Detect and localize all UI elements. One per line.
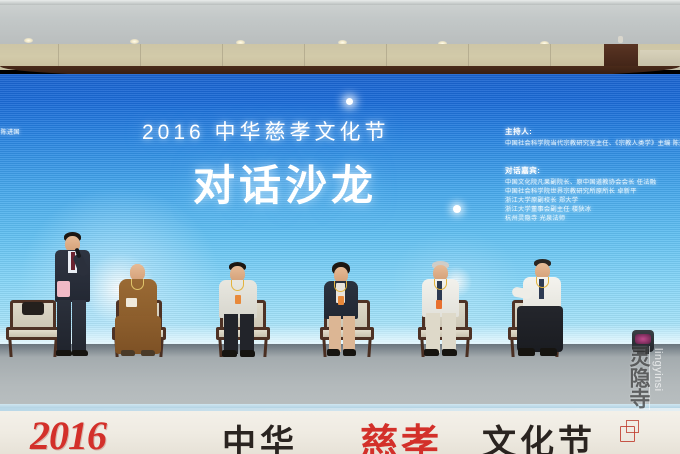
guests-heading: 对话嘉宾: <box>505 165 680 176</box>
host-line: 中国社会科学院当代宗教研究室主任、《宗教人类学》主编 陈进国 <box>505 140 680 149</box>
banner-word-2: 慈孝 <box>360 412 442 454</box>
screen-title-main: 2016 中华慈孝文化节 <box>142 116 452 146</box>
smoke-detector-icon <box>618 36 623 43</box>
watermark-latin: lingyinsi <box>652 348 664 392</box>
ceiling-edge <box>0 0 680 5</box>
watermark: 灵隐寺 lingyinsi <box>618 346 678 446</box>
guest-line: 浙江大学原副校长 郑大学 <box>505 197 680 206</box>
cue-cards <box>57 281 70 297</box>
screen-credits-panel-left: 教学》主编 陈进国 <box>0 128 86 137</box>
guest-line: 浙江大学董事会副主任 楼狄冰 <box>505 206 680 215</box>
banner-year: 2016 <box>30 412 106 454</box>
name-badge <box>126 298 137 307</box>
monk-robe-lower <box>115 316 161 354</box>
stage-banner: 2016 中华 慈孝 文化节 <box>0 408 680 454</box>
banner-word-1: 中华 <box>222 415 298 454</box>
downlight-icon <box>24 38 33 43</box>
stage-light-lens <box>635 334 651 344</box>
screen-credits-panel: 主持人: 中国社会科学院当代宗教研究室主任、《宗教人类学》主编 陈进国 对话嘉宾… <box>505 126 680 224</box>
banner-top-edge <box>0 408 680 411</box>
banner-word-3: 文化节 <box>482 415 596 454</box>
host-heading: 主持人: <box>505 126 680 137</box>
bag <box>22 302 44 315</box>
trousers <box>517 306 563 352</box>
title-dot-accent <box>346 98 353 105</box>
guest-line: 杭州灵隐寺 光泉法师 <box>505 215 680 224</box>
ceiling <box>0 0 680 46</box>
photo-stage-scene: 2016 中华慈孝文化节 对话沙龙 主持人: 中国社会科学院当代宗教研究室主任、… <box>0 0 680 454</box>
watermark-chinese: 灵隐寺 <box>620 346 650 409</box>
left-credit-line: 教学》主编 陈进国 <box>0 128 86 137</box>
watermark-seal-icon <box>626 420 639 433</box>
guest-line: 中国社会科学院世界宗教研究所原所长 卓新平 <box>505 188 680 197</box>
screen-title-sub: 对话沙龙 <box>193 152 513 213</box>
guest-line: 中国文化院凡果副院长、原中国道教协会会长 任法融 <box>505 179 680 188</box>
